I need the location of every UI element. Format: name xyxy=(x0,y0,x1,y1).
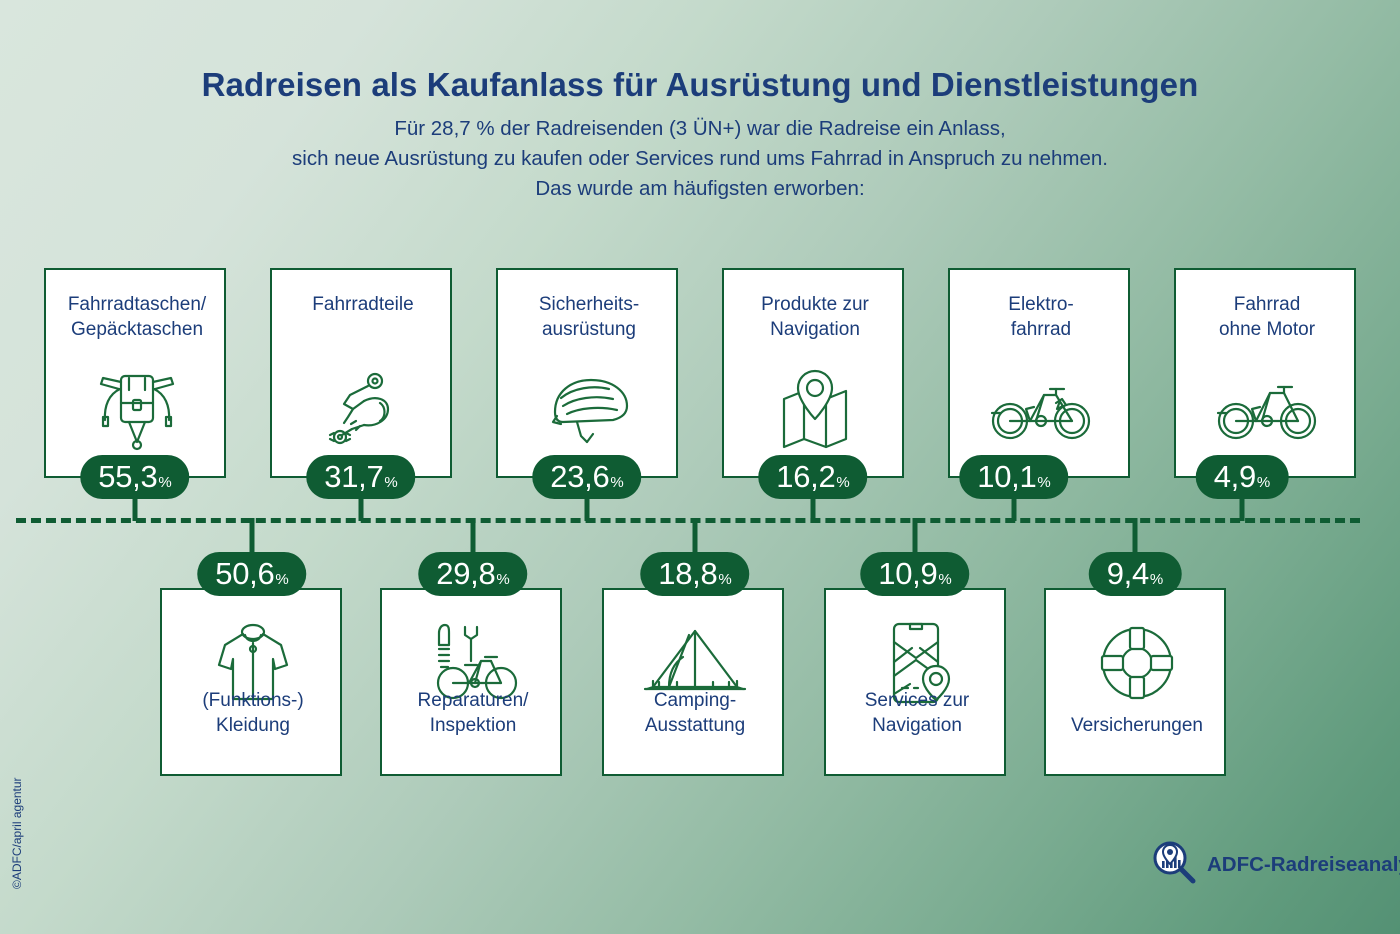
percent-sign: % xyxy=(610,461,623,505)
value-number: 9,4 xyxy=(1107,552,1149,596)
percent-sign: % xyxy=(275,558,288,602)
card-label: Reparaturen/ Inspektion xyxy=(382,688,564,738)
copyright-notice: ©ADFC/april agentur xyxy=(10,769,24,889)
logo-text: ADFC-Radreiseanalyse xyxy=(1207,853,1400,877)
card-label: Camping- Ausstattung xyxy=(604,688,786,738)
adfc-logo: ADFC-Radreiseanalyse xyxy=(1150,838,1400,891)
card-label: Elektro- fahrrad xyxy=(950,292,1132,342)
percent-sign: % xyxy=(1257,461,1270,505)
card-fahrradteile[interactable]: Fahrradteile xyxy=(270,268,452,478)
card-label: Fahrradteile xyxy=(272,292,454,317)
infographic-canvas: Radreisen als Kaufanlass für Ausrüstung … xyxy=(0,0,1400,934)
magnifier-chart-pin-icon xyxy=(1150,838,1198,891)
value-number: 10,1 xyxy=(977,455,1036,499)
card-elektrofahrrad[interactable]: Elektro- fahrrad xyxy=(948,268,1130,478)
value-number: 4,9 xyxy=(1214,455,1256,499)
percent-sign: % xyxy=(718,558,731,602)
card-camping-ausstattung[interactable]: Camping- Ausstattung xyxy=(602,588,784,776)
percent-sign: % xyxy=(496,558,509,602)
value-number: 16,2 xyxy=(776,455,835,499)
value-badge-camping: 18,8 % xyxy=(640,552,749,596)
map-pin-icon xyxy=(724,358,906,458)
bicycle-icon xyxy=(1176,358,1358,458)
card-label: Fahrradtaschen/ Gepäcktaschen xyxy=(46,292,228,342)
helmet-icon xyxy=(498,358,680,458)
derailleur-icon xyxy=(272,358,454,458)
percent-sign: % xyxy=(938,558,951,602)
subtitle-line-2: sich neue Ausrüstung zu kaufen oder Serv… xyxy=(0,144,1400,174)
value-badge-fahrradteile: 31,7 % xyxy=(306,455,415,499)
ebike-icon xyxy=(950,358,1132,458)
card-versicherungen[interactable]: Versicherungen xyxy=(1044,588,1226,776)
card-label: Produkte zur Navigation xyxy=(724,292,906,342)
card-reparaturen-inspektion[interactable]: Reparaturen/ Inspektion xyxy=(380,588,562,776)
percent-sign: % xyxy=(384,461,397,505)
value-number: 23,6 xyxy=(550,455,609,499)
value-number: 10,9 xyxy=(878,552,937,596)
card-label: Sicherheits- ausrüstung xyxy=(498,292,680,342)
value-badge-funktionskleidung: 50,6 % xyxy=(197,552,306,596)
percent-sign: % xyxy=(1150,558,1163,602)
value-badge-sicherheitsausruestung: 23,6 % xyxy=(532,455,641,499)
value-badge-produkte-navigation: 16,2 % xyxy=(758,455,867,499)
card-sicherheitsausruestung[interactable]: Sicherheits- ausrüstung xyxy=(496,268,678,478)
card-funktionskleidung[interactable]: (Funktions-) Kleidung xyxy=(160,588,342,776)
value-badge-elektrofahrrad: 10,1 % xyxy=(959,455,1068,499)
card-label: Versicherungen xyxy=(1046,713,1228,738)
lifebuoy-icon xyxy=(1046,614,1228,712)
value-badge-reparaturen: 29,8 % xyxy=(418,552,527,596)
value-number: 29,8 xyxy=(436,552,495,596)
page-title: Radreisen als Kaufanlass für Ausrüstung … xyxy=(0,66,1400,104)
card-label: Fahrrad ohne Motor xyxy=(1176,292,1358,342)
value-badge-fahrradtaschen: 55,3 % xyxy=(80,455,189,499)
subtitle-line-3: Das wurde am häufigsten erworben: xyxy=(0,174,1400,204)
card-label: Services zur Navigation xyxy=(826,688,1008,738)
value-badge-fahrrad-ohne-motor: 4,9 % xyxy=(1196,455,1289,499)
value-badge-services-navigation: 10,9 % xyxy=(860,552,969,596)
pannier-bag-icon xyxy=(46,358,228,458)
subtitle-line-1: Für 28,7 % der Radreisenden (3 ÜN+) war … xyxy=(0,114,1400,144)
value-badge-versicherungen: 9,4 % xyxy=(1089,552,1182,596)
card-services-navigation[interactable]: Services zur Navigation xyxy=(824,588,1006,776)
card-label: (Funktions-) Kleidung xyxy=(162,688,344,738)
value-number: 55,3 xyxy=(98,455,157,499)
card-fahrrad-ohne-motor[interactable]: Fahrrad ohne Motor xyxy=(1174,268,1356,478)
dashed-axis-line xyxy=(16,518,1360,523)
card-produkte-navigation[interactable]: Produkte zur Navigation xyxy=(722,268,904,478)
subtitle-block: Für 28,7 % der Radreisenden (3 ÜN+) war … xyxy=(0,114,1400,204)
percent-sign: % xyxy=(158,461,171,505)
percent-sign: % xyxy=(1037,461,1050,505)
percent-sign: % xyxy=(836,461,849,505)
value-number: 31,7 xyxy=(324,455,383,499)
card-fahrradtaschen[interactable]: Fahrradtaschen/ Gepäcktaschen xyxy=(44,268,226,478)
value-number: 18,8 xyxy=(658,552,717,596)
value-number: 50,6 xyxy=(215,552,274,596)
